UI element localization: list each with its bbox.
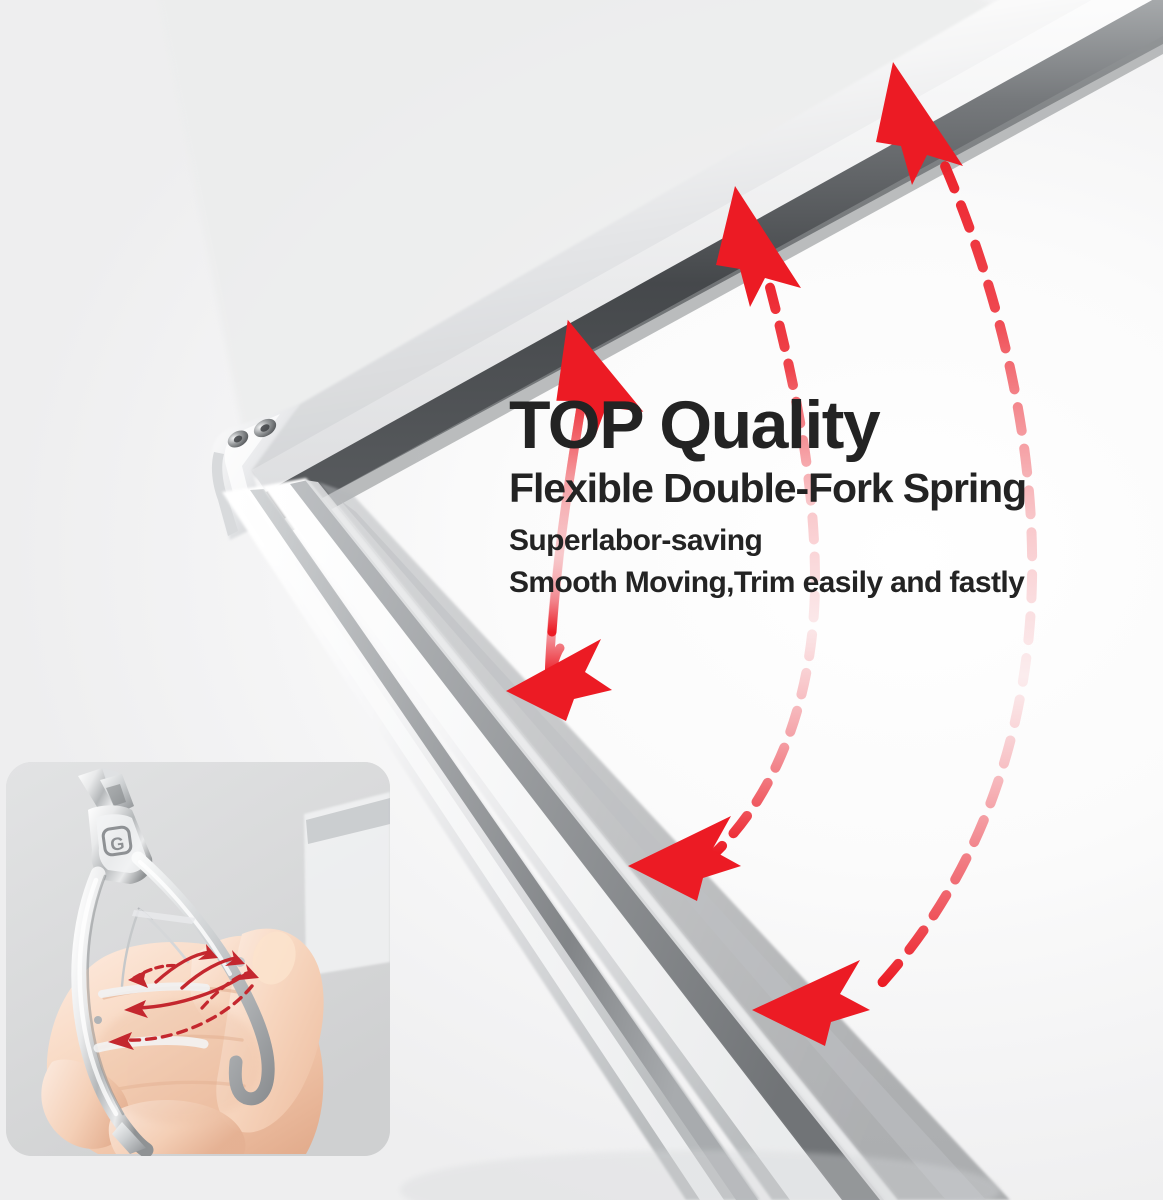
nipper-rivet-left — [94, 1016, 102, 1024]
subhead: Flexible Double-Fork Spring — [509, 467, 1109, 510]
feature-bullet-1: Superlabor-saving — [509, 520, 1109, 563]
page-title: TOP Quality — [509, 392, 1109, 459]
feature-graphic-canvas: TOP Quality Flexible Double-Fork Spring … — [0, 0, 1163, 1200]
inset-illustration: G — [6, 762, 390, 1156]
brand-logo-letter: G — [109, 833, 126, 855]
feature-bullet-2: Smooth Moving,Trim easily and fastly — [509, 562, 1109, 605]
marketing-copy-block: TOP Quality Flexible Double-Fork Spring … — [509, 392, 1109, 605]
product-in-hand-inset: G — [6, 762, 390, 1156]
